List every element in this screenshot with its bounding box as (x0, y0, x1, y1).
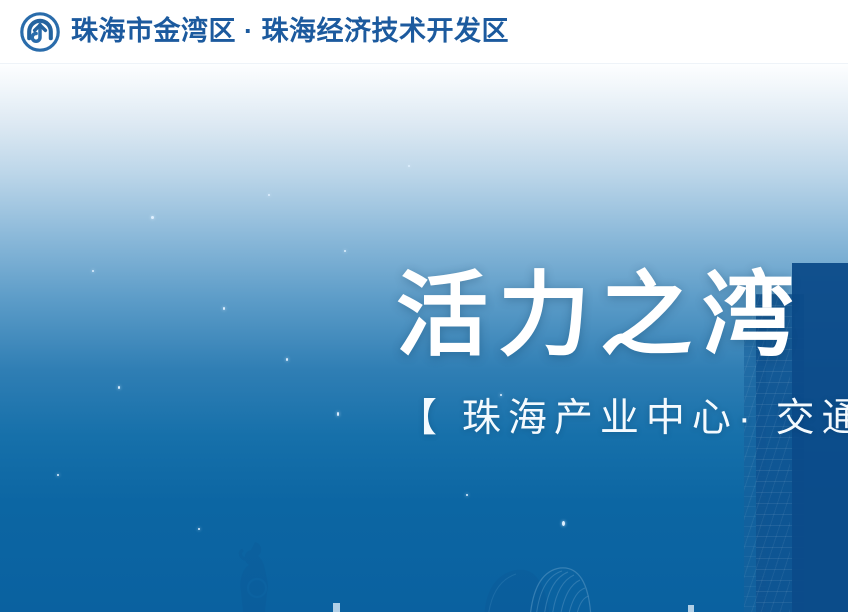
sparkle-particles (0, 64, 848, 612)
zhuhai-opera-house-silhouette (478, 556, 596, 612)
speck-left (333, 603, 340, 612)
fisher-girl-statue-silhouette (222, 538, 292, 612)
site-title: 珠海市金湾区 · 珠海经济技术开发区 (71, 18, 509, 45)
tower-diagonal-facade (744, 282, 790, 612)
brand[interactable]: 珠海市金湾区 · 珠海经济技术开发区 (20, 12, 509, 52)
page-root: 珠海市金湾区 · 珠海经济技术开发区 (0, 0, 848, 612)
hero-title: 活力之湾 (396, 270, 804, 362)
site-header: 珠海市金湾区 · 珠海经济技术开发区 (0, 0, 848, 64)
speck-right (688, 605, 694, 612)
zhuhai-arch-emblem-icon (20, 12, 60, 52)
hero-copy: 活力之湾 【 珠海产业中心· 交通 (0, 64, 848, 612)
skyscraper-graphic (744, 263, 848, 612)
hero-banner: 活力之湾 【 珠海产业中心· 交通 (0, 64, 848, 612)
tower-front (792, 263, 848, 612)
